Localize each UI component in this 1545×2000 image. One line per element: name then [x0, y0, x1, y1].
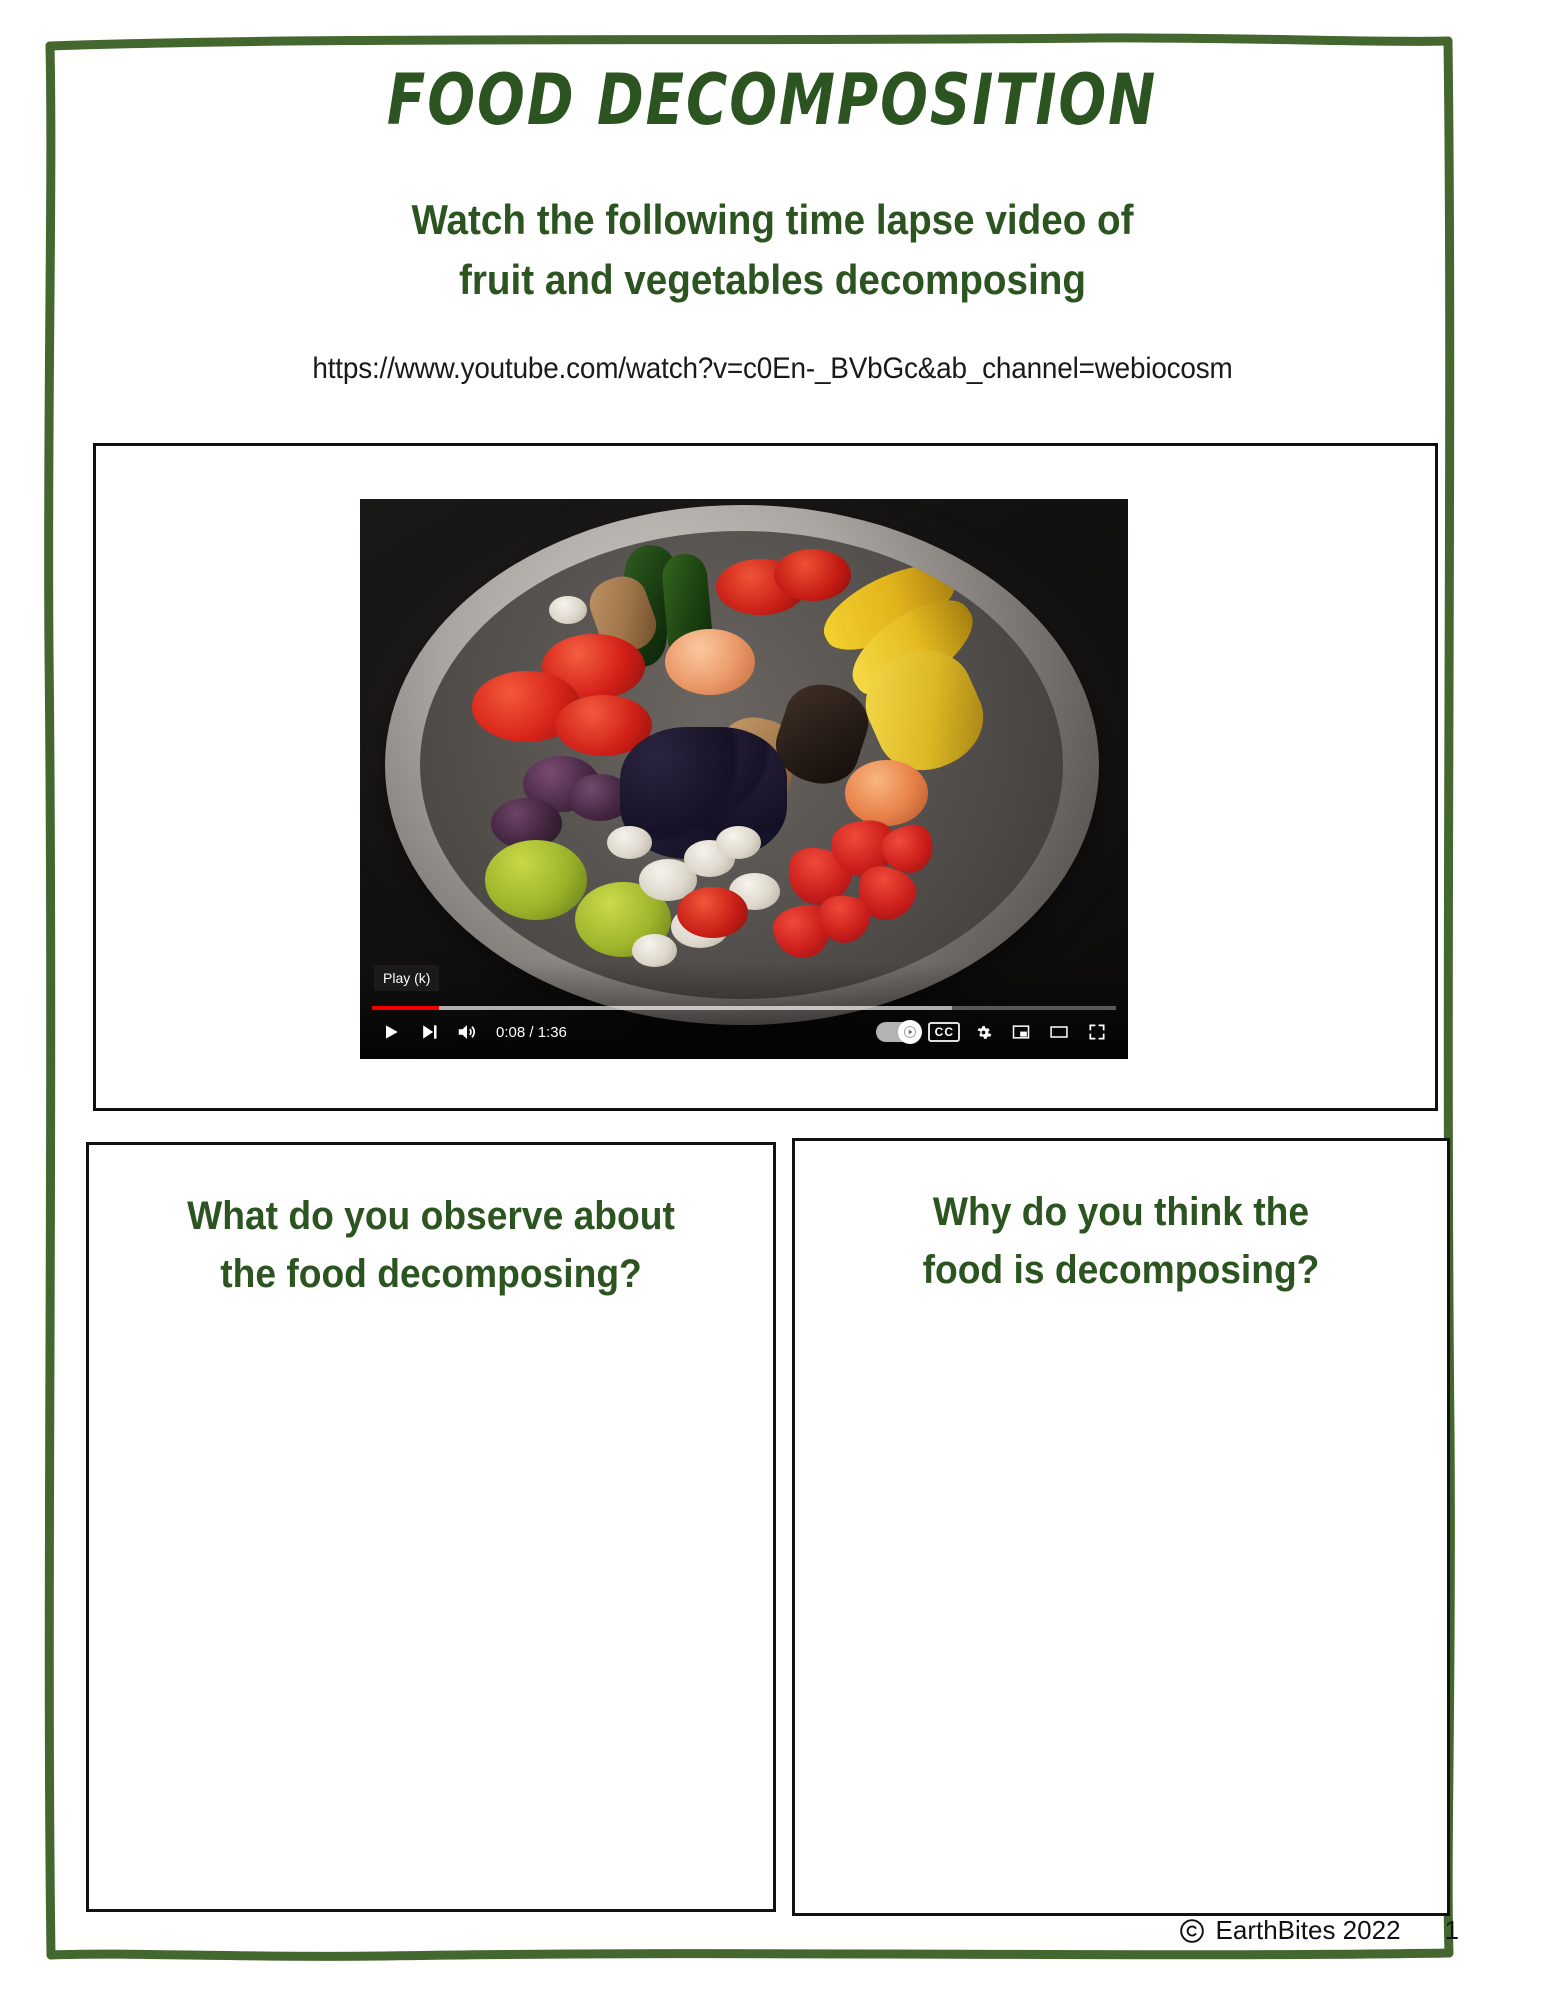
- player-controls: 0:08 / 1:36 CC: [360, 1011, 1128, 1053]
- garlic-shape: [607, 826, 652, 859]
- instructions-line-1: Watch the following time lapse video of: [62, 190, 1483, 250]
- question-box-why[interactable]: Why do you think the food is decomposing…: [792, 1138, 1450, 1916]
- instructions-line-2: fruit and vegetables decomposing: [62, 250, 1483, 310]
- player-frame: Play (k): [360, 499, 1128, 1059]
- video-url[interactable]: https://www.youtube.com/watch?v=c0En-_BV…: [54, 352, 1491, 386]
- question-observe-line-2: the food decomposing?: [130, 1245, 733, 1303]
- question-why-line-1: Why do you think the: [835, 1183, 1408, 1241]
- page-title: FOOD DECOMPOSITION: [0, 58, 1545, 126]
- youtube-player[interactable]: Play (k): [360, 499, 1128, 1059]
- video-progress-bar[interactable]: [372, 1006, 1116, 1010]
- tomato-shape: [677, 887, 748, 939]
- captions-button[interactable]: CC: [928, 1022, 960, 1042]
- bowl-interior: [420, 531, 1063, 1000]
- theater-mode-button[interactable]: [1040, 1013, 1078, 1051]
- tomato-shape: [774, 549, 851, 601]
- progress-played: [372, 1006, 439, 1010]
- question-observe-line-1: What do you observe about: [130, 1187, 733, 1245]
- play-button[interactable]: [372, 1013, 410, 1051]
- play-tooltip: Play (k): [374, 965, 439, 991]
- settings-gear-icon[interactable]: [964, 1013, 1002, 1051]
- video-time-display: 0:08 / 1:36: [496, 1024, 567, 1041]
- copyright-icon: [1178, 1917, 1206, 1945]
- garlic-shape: [549, 596, 588, 624]
- next-video-button[interactable]: [410, 1013, 448, 1051]
- peach-shape: [845, 760, 929, 826]
- question-observe-text: What do you observe about the food decom…: [130, 1187, 733, 1303]
- instructions-heading: Watch the following time lapse video of …: [62, 190, 1483, 309]
- garlic-shape: [632, 934, 677, 967]
- autoplay-knob: [898, 1020, 922, 1044]
- peach-shape: [665, 629, 755, 695]
- page-number: 1: [1445, 1915, 1459, 1946]
- page-title-text: FOOD DECOMPOSITION: [387, 58, 1157, 141]
- volume-button[interactable]: [448, 1013, 486, 1051]
- progress-buffered: [372, 1006, 952, 1010]
- worksheet-page: FOOD DECOMPOSITION Watch the following t…: [0, 0, 1545, 2000]
- video-container-box: Play (k): [93, 443, 1438, 1111]
- green-apple-shape: [485, 840, 588, 920]
- question-why-line-2: food is decomposing?: [835, 1241, 1408, 1299]
- footer-credit: EarthBites 2022: [1216, 1915, 1401, 1946]
- miniplayer-button[interactable]: [1002, 1013, 1040, 1051]
- bowl-shape: [385, 505, 1099, 1026]
- question-box-observe[interactable]: What do you observe about the food decom…: [86, 1142, 776, 1912]
- autoplay-toggle[interactable]: [876, 1022, 920, 1042]
- question-why-text: Why do you think the food is decomposing…: [835, 1183, 1408, 1299]
- garlic-shape: [716, 826, 761, 859]
- fullscreen-button[interactable]: [1078, 1013, 1116, 1051]
- page-footer: EarthBites 2022 1: [1178, 1915, 1459, 1946]
